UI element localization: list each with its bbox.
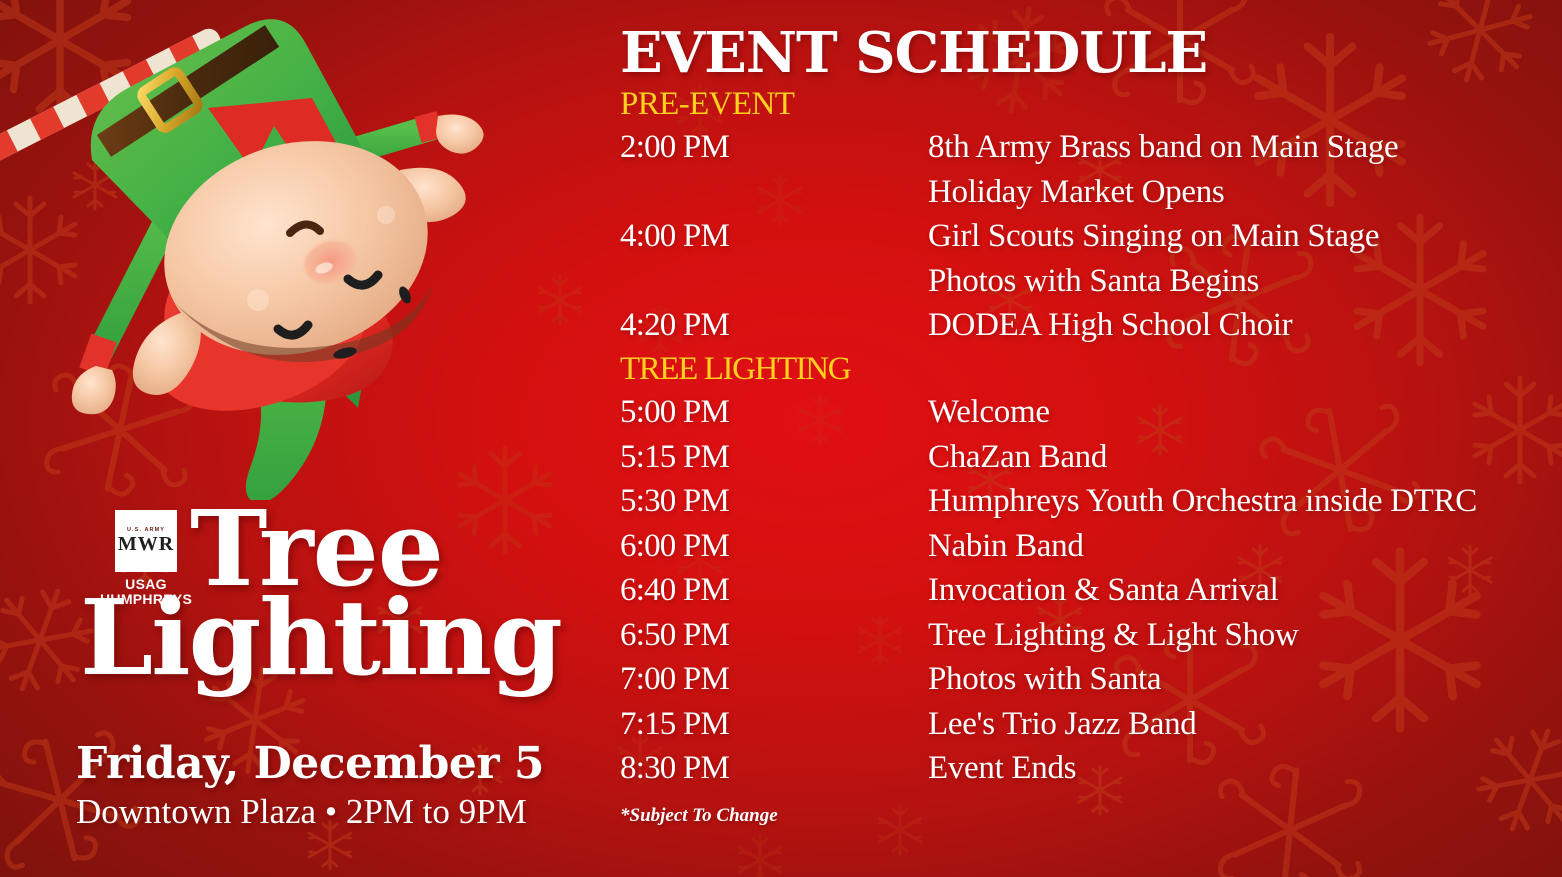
mwr-logo-letters: MWR — [118, 534, 174, 554]
schedule-row: 5:15 PM ChaZan Band — [620, 435, 1550, 480]
schedule-row-time — [620, 170, 928, 215]
schedule-row-time — [620, 259, 928, 304]
schedule-row-time: 7:15 PM — [620, 702, 928, 747]
schedule-row: Photos with Santa Begins — [620, 259, 1550, 304]
schedule-section-label-tree-lighting: TREE LIGHTING — [620, 348, 1550, 390]
schedule-row-time: 6:50 PM — [620, 613, 928, 658]
event-location: Downtown Plaza • 2PM to 9PM — [76, 792, 527, 832]
schedule-row-desc: Girl Scouts Singing on Main Stage — [928, 214, 1379, 259]
schedule-panel: EVENT SCHEDULE PRE-EVENT 2:00 PM 8th Arm… — [620, 24, 1550, 827]
schedule-row-time: 7:00 PM — [620, 657, 928, 702]
schedule-row-desc: 8th Army Brass band on Main Stage — [928, 125, 1398, 170]
schedule-row-time: 5:30 PM — [620, 479, 928, 524]
schedule-row-time: 4:00 PM — [620, 214, 928, 259]
schedule-row-desc: Invocation & Santa Arrival — [928, 568, 1279, 613]
tree-lighting-poster: U.S. ARMY MWR USAG HUMPHREYS Tree Lighti… — [0, 0, 1562, 877]
schedule-row-time: 6:00 PM — [620, 524, 928, 569]
schedule-row-time: 5:00 PM — [620, 390, 928, 435]
schedule-heading: EVENT SCHEDULE — [620, 24, 1550, 83]
schedule-row: 6:40 PM Invocation & Santa Arrival — [620, 568, 1550, 613]
schedule-row: 5:30 PM Humphreys Youth Orchestra inside… — [620, 479, 1550, 524]
elf-illustration — [0, 0, 520, 500]
schedule-row-time: 2:00 PM — [620, 125, 928, 170]
schedule-row-desc: Holiday Market Opens — [928, 170, 1224, 215]
schedule-footnote: *Subject To Change — [620, 805, 1550, 827]
schedule-row: 7:15 PM Lee's Trio Jazz Band — [620, 702, 1550, 747]
schedule-row-desc: Humphreys Youth Orchestra inside DTRC — [928, 479, 1477, 524]
schedule-row-desc: Photos with Santa — [928, 657, 1161, 702]
schedule-row-time: 8:30 PM — [620, 746, 928, 791]
schedule-row-time: 5:15 PM — [620, 435, 928, 480]
schedule-row-desc: Nabin Band — [928, 524, 1084, 569]
schedule-row-desc: Lee's Trio Jazz Band — [928, 702, 1197, 747]
schedule-row-time: 6:40 PM — [620, 568, 928, 613]
schedule-row: 6:50 PM Tree Lighting & Light Show — [620, 613, 1550, 658]
schedule-row: 7:00 PM Photos with Santa — [620, 657, 1550, 702]
schedule-row: 2:00 PM 8th Army Brass band on Main Stag… — [620, 125, 1550, 170]
schedule-row-desc: ChaZan Band — [928, 435, 1107, 480]
schedule-row-time: 4:20 PM — [620, 303, 928, 348]
schedule-section-rows-tree-lighting: 5:00 PM Welcome 5:15 PM ChaZan Band 5:30… — [620, 390, 1550, 791]
schedule-row-desc: Welcome — [928, 390, 1050, 435]
schedule-row: 4:20 PM DODEA High School Choir — [620, 303, 1550, 348]
schedule-row: 4:00 PM Girl Scouts Singing on Main Stag… — [620, 214, 1550, 259]
mwr-logo-mark: U.S. ARMY MWR — [115, 510, 177, 572]
schedule-row: 5:00 PM Welcome — [620, 390, 1550, 435]
schedule-row-desc: Event Ends — [928, 746, 1076, 791]
schedule-row-desc: Tree Lighting & Light Show — [928, 613, 1299, 658]
schedule-row-desc: DODEA High School Choir — [928, 303, 1292, 348]
event-title-line2: Lighting — [80, 593, 561, 682]
schedule-row: 8:30 PM Event Ends — [620, 746, 1550, 791]
event-date: Friday, December 5 — [76, 738, 544, 789]
schedule-row: Holiday Market Opens — [620, 170, 1550, 215]
event-title: Tree Lighting — [190, 504, 561, 683]
schedule-section-rows-pre-event: 2:00 PM 8th Army Brass band on Main Stag… — [620, 125, 1550, 348]
schedule-row: 6:00 PM Nabin Band — [620, 524, 1550, 569]
schedule-row-desc: Photos with Santa Begins — [928, 259, 1259, 304]
schedule-section-label-pre-event: PRE-EVENT — [620, 83, 1550, 125]
